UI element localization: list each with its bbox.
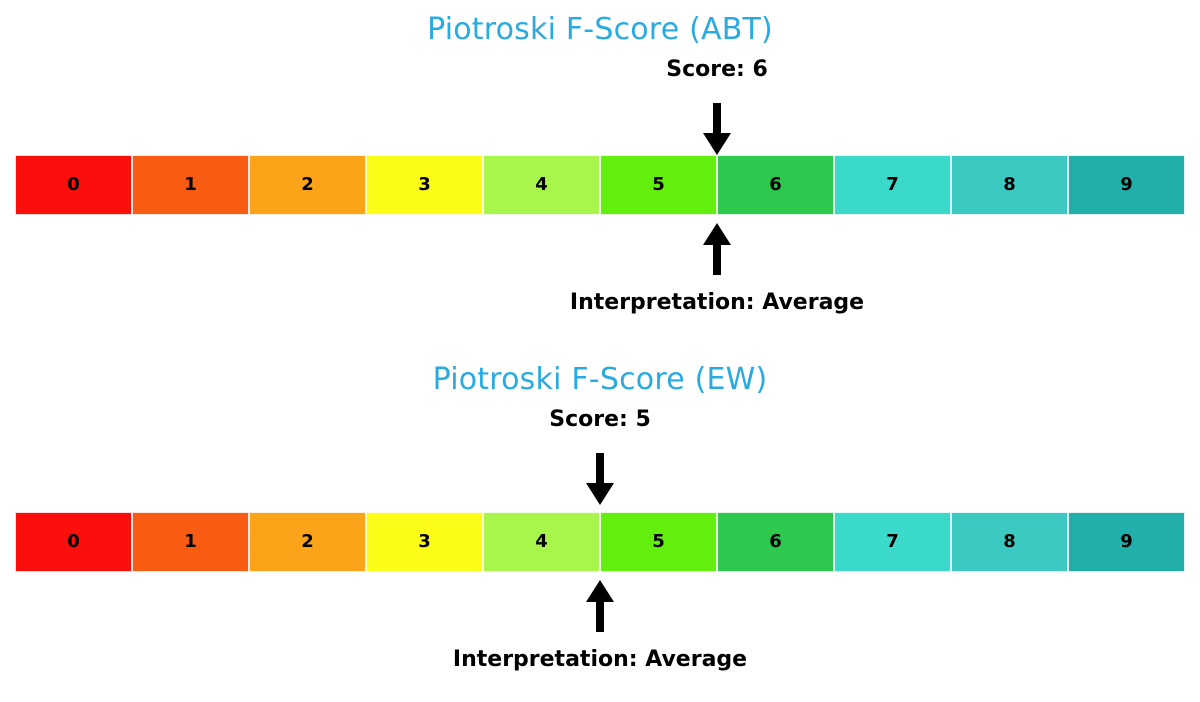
scale-segment-0: 0	[15, 512, 132, 572]
scale-segment-7: 7	[834, 512, 951, 572]
page-title-abt: Piotroski F-Score (ABT)	[0, 12, 1200, 47]
score-pointer-down-icon-ew	[583, 453, 617, 507]
scale-segment-4: 4	[483, 155, 600, 215]
interpretation-label-abt: Interpretation: Average	[570, 290, 864, 315]
page-title-ew: Piotroski F-Score (EW)	[0, 362, 1200, 397]
scale-segment-9: 9	[1068, 155, 1185, 215]
interpretation-pointer-up-icon-ew	[583, 580, 617, 632]
scale-segment-9: 9	[1068, 512, 1185, 572]
interpretation-pointer-up-icon-abt	[700, 223, 734, 275]
scale-segment-6: 6	[717, 512, 834, 572]
scale-segment-8: 8	[951, 155, 1068, 215]
score-panel-abt: Piotroski F-Score (ABT) Score: 6 0123456…	[0, 0, 1200, 340]
interpretation-label-ew: Interpretation: Average	[453, 647, 747, 672]
scale-segment-8: 8	[951, 512, 1068, 572]
score-panel-ew: Piotroski F-Score (EW) Score: 5 01234567…	[0, 350, 1200, 702]
scale-segment-2: 2	[249, 512, 366, 572]
scale-segment-3: 3	[366, 155, 483, 215]
score-scale-bar-abt: 0123456789	[15, 155, 1185, 215]
scale-segment-1: 1	[132, 512, 249, 572]
scale-segment-7: 7	[834, 155, 951, 215]
scale-segment-5: 5	[600, 512, 717, 572]
scale-segment-6: 6	[717, 155, 834, 215]
score-label-abt: Score: 6	[666, 57, 768, 82]
score-pointer-down-icon-abt	[700, 103, 734, 157]
scale-segment-5: 5	[600, 155, 717, 215]
scale-segment-4: 4	[483, 512, 600, 572]
scale-segment-2: 2	[249, 155, 366, 215]
score-label-ew: Score: 5	[549, 407, 651, 432]
scale-segment-3: 3	[366, 512, 483, 572]
scale-segment-0: 0	[15, 155, 132, 215]
scale-segment-1: 1	[132, 155, 249, 215]
score-scale-bar-ew: 0123456789	[15, 512, 1185, 572]
